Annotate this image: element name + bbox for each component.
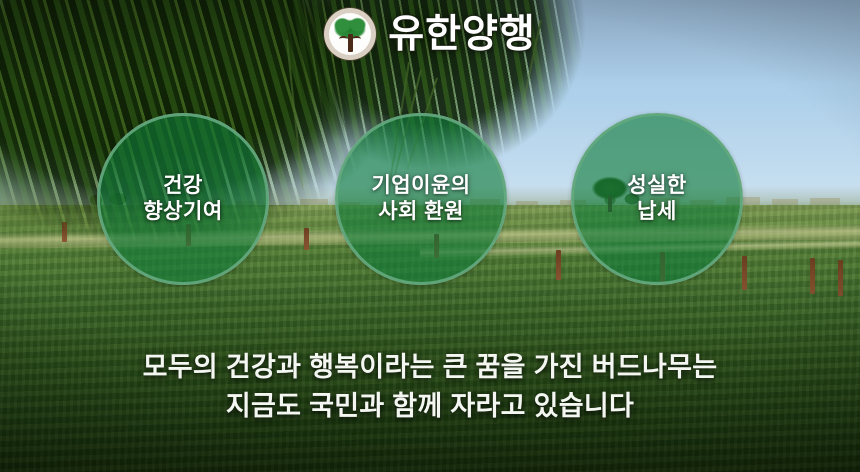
brand-name: 유한양행	[388, 15, 536, 54]
willow-tree-emblem-icon	[324, 8, 376, 60]
value-circle-health[interactable]: 건강 향상기여	[97, 113, 269, 285]
circle-label-line1: 건강	[163, 173, 203, 199]
circle-label-line1: 기업이윤의	[371, 173, 470, 199]
tagline-line-1: 모두의 건강과 행복이라는 큰 꿈을 가진 버드나무는	[0, 348, 860, 387]
tagline: 모두의 건강과 행복이라는 큰 꿈을 가진 버드나무는 지금도 국민과 함께 자…	[0, 348, 860, 426]
emblem-inner-circle	[329, 13, 371, 55]
value-circles: 건강 향상기여 기업이윤의 사회 환원 성실한 납세	[0, 113, 860, 285]
tagline-line-2: 지금도 국민과 함께 자라고 있습니다	[0, 387, 860, 426]
circle-label-line2: 사회 환원	[378, 199, 464, 225]
value-circle-tax[interactable]: 성실한 납세	[571, 113, 743, 285]
emblem-tree-trunk	[348, 34, 353, 52]
value-circle-profit-return[interactable]: 기업이윤의 사회 환원	[335, 113, 507, 285]
brand-logo: 유한양행	[0, 8, 860, 60]
circle-label-line2: 납세	[637, 199, 677, 225]
circle-label-line2: 향상기여	[143, 199, 222, 225]
circle-label-line1: 성실한	[627, 173, 686, 199]
yuhan-corporation-banner: 유한양행 건강 향상기여 기업이윤의 사회 환원 성실한 납세 모두의 건강과 …	[0, 0, 860, 472]
